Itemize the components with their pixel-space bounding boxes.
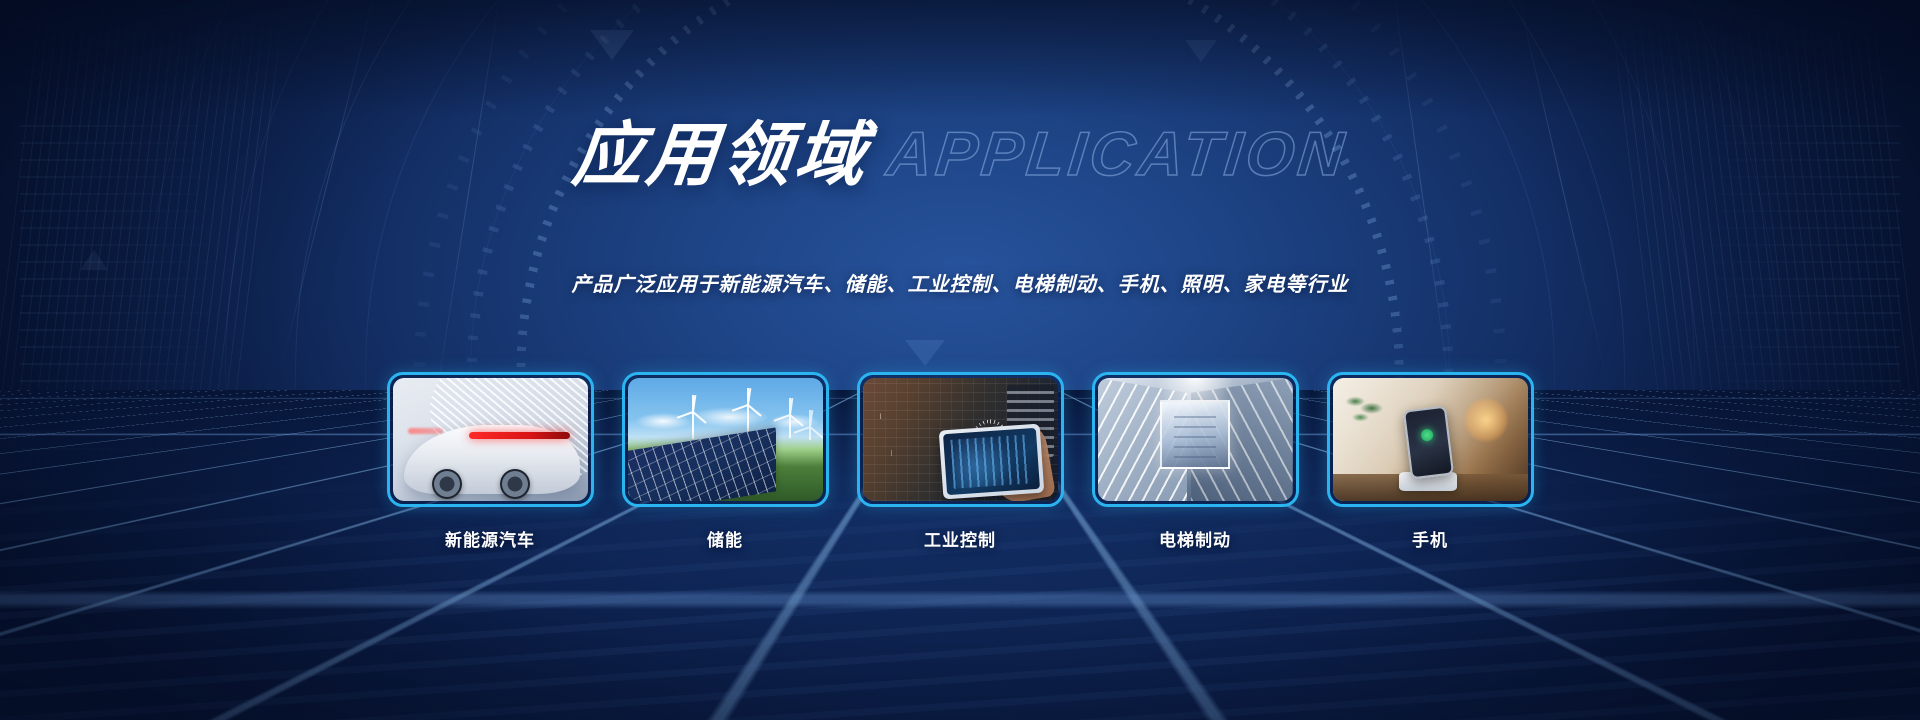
card-frame[interactable]: [387, 372, 594, 507]
card-frame[interactable]: [1327, 372, 1534, 507]
card-label: 储能: [707, 526, 743, 551]
car-taillight: [469, 432, 570, 439]
card-label: 新能源汽车: [445, 526, 535, 551]
warm-lamp-glow: [1464, 398, 1508, 442]
tablet-device: [938, 424, 1044, 500]
solar-panel-array: [628, 427, 776, 501]
smartphone: [1403, 405, 1454, 479]
elevator-shaft-photo: [1098, 378, 1293, 501]
shaft-light-glow: [1156, 378, 1234, 415]
car-taillight-secondary: [408, 428, 443, 434]
card-frame[interactable]: [1092, 372, 1299, 507]
car-wheel: [432, 469, 462, 499]
electric-sports-car-photo: [393, 378, 588, 501]
title-chinese: 应用领域: [570, 120, 873, 190]
application-card-industrial-control[interactable]: 工业控制: [857, 372, 1064, 551]
page-title: 应用领域 APPLICATION: [0, 120, 1920, 190]
page-subtitle: 产品广泛应用于新能源汽车、储能、工业控制、电梯制动、手机、照明、家电等行业: [0, 268, 1920, 297]
title-english-outline: APPLICATION: [884, 124, 1350, 186]
application-card-energy-storage[interactable]: 储能: [622, 372, 829, 551]
application-card-mobile-phone[interactable]: 手机: [1327, 372, 1534, 551]
application-card-elevator-braking[interactable]: 电梯制动: [1092, 372, 1299, 551]
wind-turbine-icon: [803, 410, 817, 440]
tablet-screen: [942, 428, 1039, 495]
banner-content: 应用领域 APPLICATION 产品广泛应用于新能源汽车、储能、工业控制、电梯…: [0, 0, 1920, 720]
industrial-control-tablet-photo: [863, 378, 1058, 501]
wind-turbine-icon: [682, 395, 704, 439]
solar-panels-wind-turbines-photo: [628, 378, 823, 501]
card-frame[interactable]: [857, 372, 1064, 507]
card-frame[interactable]: [622, 372, 829, 507]
potted-plant: [1340, 390, 1391, 447]
card-label: 手机: [1412, 526, 1448, 551]
card-label: 电梯制动: [1159, 526, 1231, 551]
card-label: 工业控制: [924, 526, 996, 551]
application-card-list: 新能源汽车: [0, 372, 1920, 551]
car-wheel: [500, 469, 530, 499]
smartphone-wireless-charger-photo: [1333, 378, 1528, 501]
application-card-new-energy-vehicle[interactable]: 新能源汽车: [387, 372, 594, 551]
